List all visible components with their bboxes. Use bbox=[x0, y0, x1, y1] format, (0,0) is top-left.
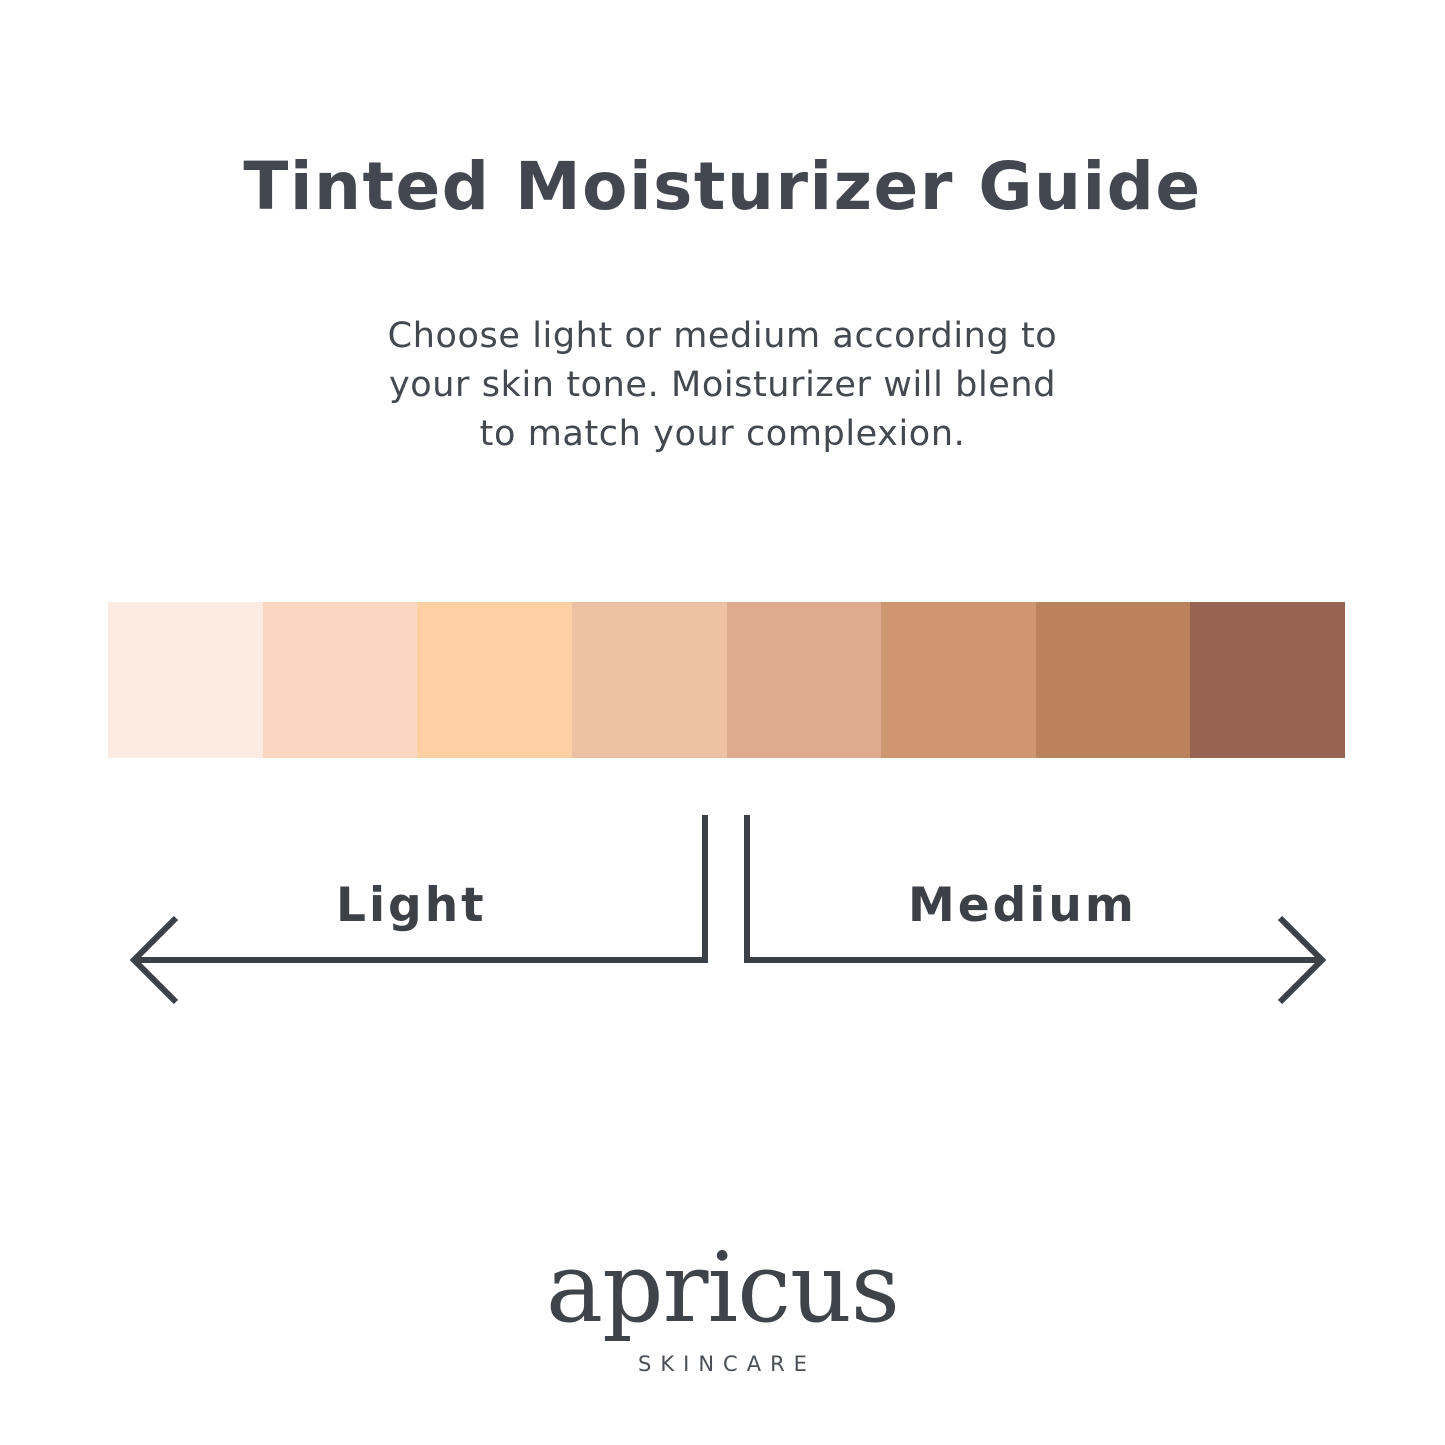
shade-swatch-1[interactable] bbox=[108, 602, 263, 758]
shade-swatch-5[interactable] bbox=[727, 602, 882, 758]
subtitle: Choose light or medium according to your… bbox=[0, 312, 1445, 459]
shade-swatch-4[interactable] bbox=[572, 602, 727, 758]
brand-logo: apricus SKINCARE bbox=[0, 1240, 1445, 1376]
shade-swatch-7[interactable] bbox=[1036, 602, 1191, 758]
header: Tinted Moisturizer Guide bbox=[0, 152, 1445, 222]
shade-swatch-strip bbox=[108, 602, 1345, 758]
tinted-moisturizer-guide-page: Tinted Moisturizer Guide Choose light or… bbox=[0, 0, 1445, 1445]
shade-swatch-8[interactable] bbox=[1190, 602, 1345, 758]
subtitle-line-2: your skin tone. Moisturizer will blend bbox=[0, 361, 1445, 410]
shade-swatch-2[interactable] bbox=[263, 602, 418, 758]
range-label-medium: Medium bbox=[908, 878, 1137, 933]
range-label-light: Light bbox=[336, 878, 487, 933]
subtitle-line-1: Choose light or medium according to bbox=[0, 312, 1445, 361]
brand-name: apricus bbox=[0, 1240, 1445, 1336]
page-title: Tinted Moisturizer Guide bbox=[0, 152, 1445, 222]
scale-arrows-graphic bbox=[0, 790, 1445, 1030]
shade-swatch-6[interactable] bbox=[881, 602, 1036, 758]
shade-range-scale bbox=[0, 790, 1445, 1030]
shade-swatch-3[interactable] bbox=[417, 602, 572, 758]
brand-tagline: SKINCARE bbox=[0, 1352, 1445, 1376]
subtitle-line-3: to match your complexion. bbox=[0, 410, 1445, 459]
